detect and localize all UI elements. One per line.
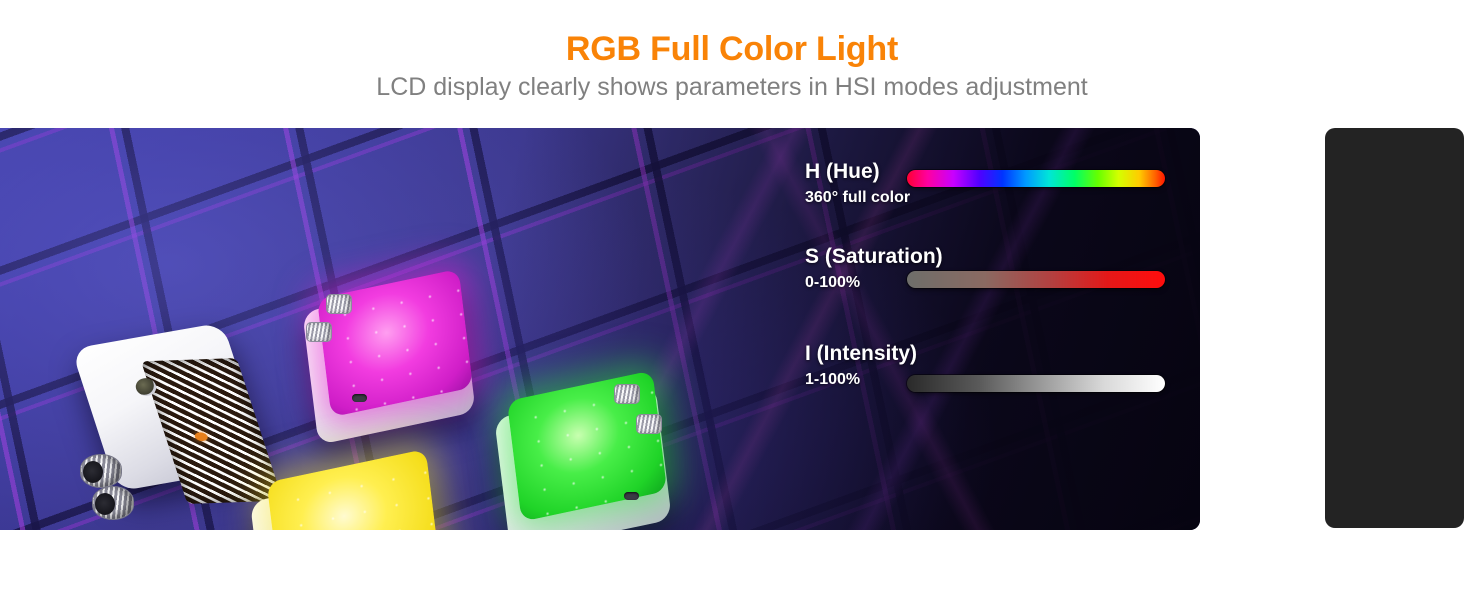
led-face-yellow xyxy=(267,449,442,530)
product-banner: RGB Full Color Light LCD display clearly… xyxy=(0,0,1464,600)
saturation-gradient-bar xyxy=(907,271,1165,288)
page-subtitle: LCD display clearly shows parameters in … xyxy=(0,73,1464,102)
spec-label-hue: H (Hue) xyxy=(805,160,910,184)
hero-product-image: H (Hue) 360° full color S (Saturation) 0… xyxy=(0,128,1200,530)
page-title: RGB Full Color Light xyxy=(0,30,1464,69)
spec-value-hue: 360° full color xyxy=(805,189,910,207)
usb-c-port xyxy=(624,492,639,500)
cold-shoe-knob-a xyxy=(614,384,640,404)
hue-gradient-bar xyxy=(907,170,1165,187)
spec-value-intensity: 1-100% xyxy=(805,371,917,389)
spec-label-saturation: S (Saturation) xyxy=(805,245,943,269)
usb-c-port xyxy=(352,394,367,402)
header: RGB Full Color Light LCD display clearly… xyxy=(0,0,1464,128)
device-magenta-light xyxy=(300,276,500,436)
magnet-barrel-upper xyxy=(80,454,122,488)
led-dot-grid xyxy=(267,449,442,530)
device-white-light-rear xyxy=(88,326,268,516)
cold-shoe-knob-a xyxy=(326,294,352,314)
spec-label-intensity: I (Intensity) xyxy=(805,342,917,366)
dark-placeholder-panel xyxy=(1325,128,1464,528)
spec-row-hue: H (Hue) 360° full color xyxy=(805,160,910,207)
intensity-gradient-bar xyxy=(907,375,1165,392)
cold-shoe-knob-b xyxy=(306,322,332,342)
magnet-barrel-lower xyxy=(92,486,134,520)
device-green-light xyxy=(488,378,688,530)
device-yellow-light xyxy=(248,458,468,530)
spec-row-intensity: I (Intensity) 1-100% xyxy=(805,342,917,389)
orange-accent-dot xyxy=(194,432,209,441)
cold-shoe-knob-b xyxy=(636,414,662,434)
